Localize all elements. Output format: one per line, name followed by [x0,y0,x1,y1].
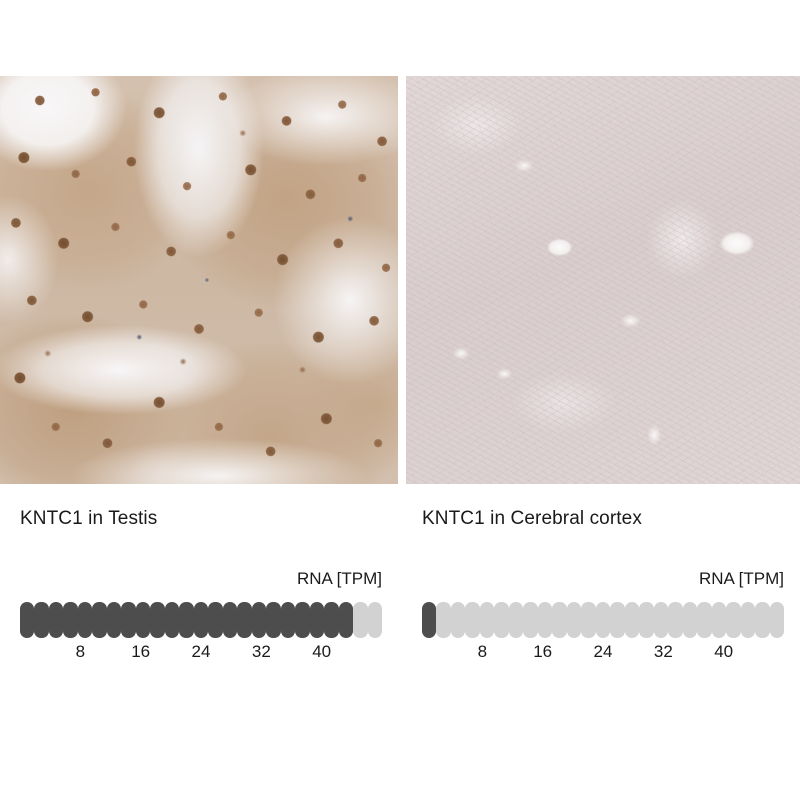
rna-segment [596,602,610,638]
micrograph-cerebral-cortex[interactable] [406,76,800,484]
rna-segment [179,602,193,638]
rna-bar-cerebral-cortex[interactable] [422,602,784,638]
rna-segment [567,602,581,638]
rna-segment [480,602,494,638]
rna-tick-label: 40 [714,641,733,663]
rna-segment [63,602,77,638]
rna-segment [494,602,508,638]
rna-segment [78,602,92,638]
rna-tick-label: 8 [478,641,487,663]
rna-ticks-testis: 816243240 [20,641,382,663]
rna-segment [237,602,251,638]
micrograph-testis[interactable] [0,76,398,484]
rna-segment [194,602,208,638]
rna-tick-label: 40 [312,641,331,663]
rna-segment [324,602,338,638]
rna-segment [281,602,295,638]
rna-segment [436,602,450,638]
rna-segment [654,602,668,638]
rna-tick-label: 16 [533,641,552,663]
rna-segment [552,602,566,638]
rna-ticks-cerebral-cortex: 816243240 [422,641,784,663]
rna-segment [107,602,121,638]
rna-segment [581,602,595,638]
rna-segment [422,602,436,638]
rna-segment [697,602,711,638]
rna-segment [165,602,179,638]
figure-root: KNTC1 in Testis KNTC1 in Cerebral cortex… [0,0,800,800]
caption-testis: KNTC1 in Testis [20,508,157,530]
rna-segment [92,602,106,638]
rna-segment [668,602,682,638]
rna-segment [712,602,726,638]
rna-segment [223,602,237,638]
rna-segment [465,602,479,638]
rna-segment [266,602,280,638]
rna-segment [20,602,34,638]
rna-segment [252,602,266,638]
rna-segment [755,602,769,638]
rna-segment [610,602,624,638]
rna-segment [538,602,552,638]
rna-segment [741,602,755,638]
rna-segment [121,602,135,638]
rna-segment [49,602,63,638]
rna-segment [683,602,697,638]
rna-tick-label: 16 [131,641,150,663]
vessel-lacunae-cerebral-cortex [406,76,800,484]
rna-segment [353,602,367,638]
rna-segment [208,602,222,638]
rna-unit-label-cerebral-cortex: RNA [TPM] [422,568,784,590]
rna-segment [310,602,324,638]
rna-tick-label: 32 [252,641,271,663]
rna-tick-label: 8 [76,641,85,663]
rna-segment [368,602,382,638]
rna-segment [726,602,740,638]
rna-tick-label: 32 [654,641,673,663]
rna-bar-testis[interactable] [20,602,382,638]
rna-segment [523,602,537,638]
rna-segment [509,602,523,638]
rna-segment [34,602,48,638]
rna-segment [136,602,150,638]
rna-segment [639,602,653,638]
rna-gauge-testis: RNA [TPM] 816243240 [20,568,382,663]
rna-segment [451,602,465,638]
rna-segment [770,602,784,638]
stained-nuclei-testis [0,76,398,484]
rna-segment [339,602,353,638]
rna-gauge-cerebral-cortex: RNA [TPM] 816243240 [422,568,784,663]
rna-segment [625,602,639,638]
caption-cerebral-cortex: KNTC1 in Cerebral cortex [422,508,642,530]
rna-segment [150,602,164,638]
rna-unit-label-testis: RNA [TPM] [20,568,382,590]
rna-segment [295,602,309,638]
rna-tick-label: 24 [192,641,211,663]
rna-tick-label: 24 [594,641,613,663]
